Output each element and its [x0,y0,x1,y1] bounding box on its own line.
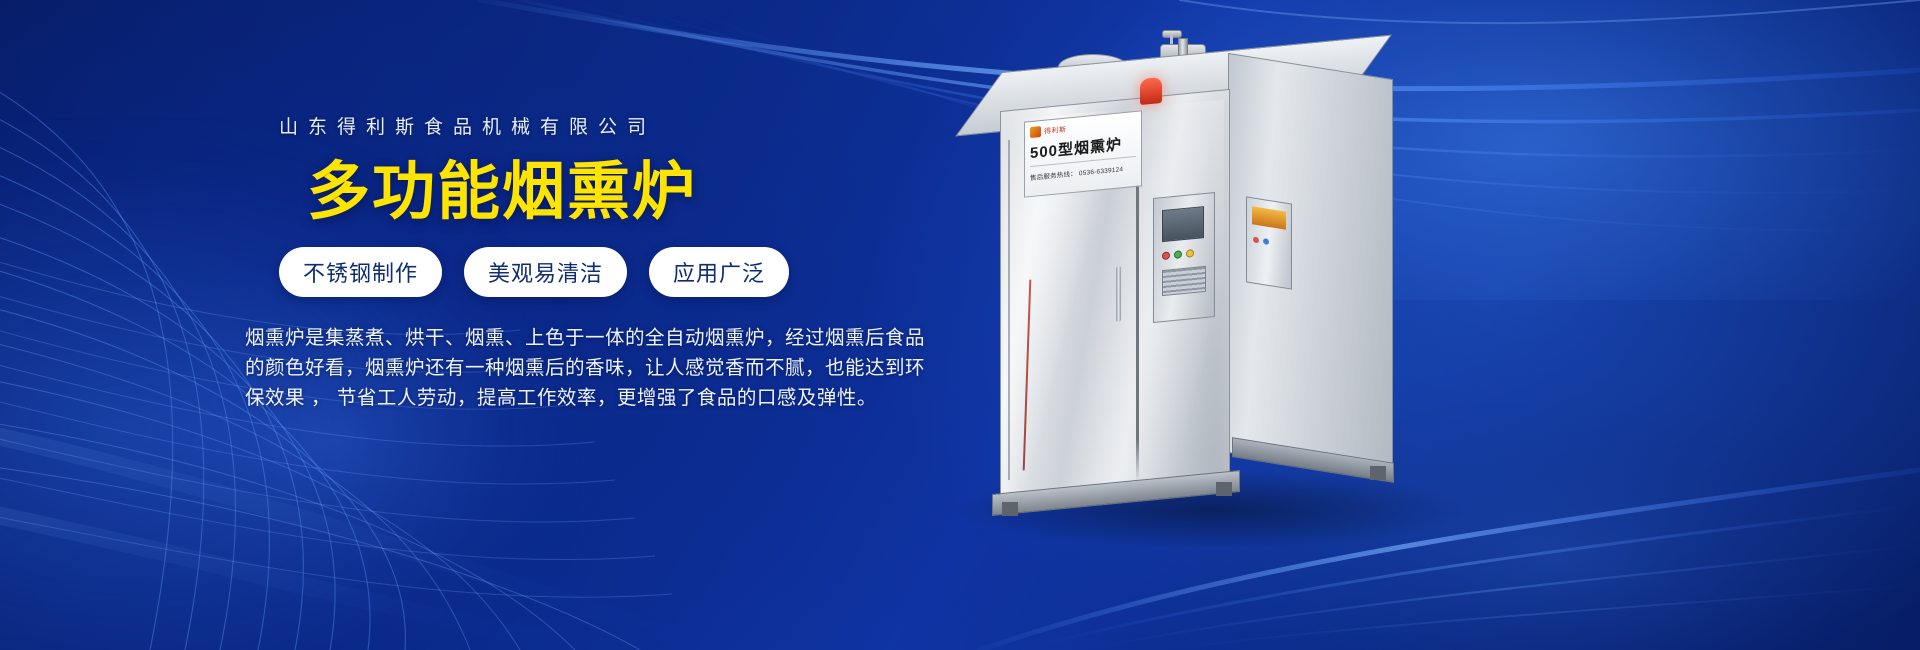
brand-logo-icon [1030,126,1041,138]
product-label-plate: 得利斯 500型烟熏炉 售后服务热线： 0536-6339124 [1024,110,1142,197]
oven-door-handle [1116,266,1121,322]
feature-pill-wide-use[interactable]: 应用广泛 [649,247,789,297]
oven-door-edge [1008,140,1010,480]
oven-secondary-panel [1246,196,1292,289]
alarm-beacon-light [1140,77,1162,105]
secondary-panel-indicator-red [1253,236,1259,243]
feature-pill-easy-clean[interactable]: 美观易清洁 [464,247,627,297]
oven-control-box [1153,192,1215,323]
banner-text-block: 山东得利斯食品机械有限公司 多功能烟熏炉 不锈钢制作 美观易清洁 应用广泛 烟熏… [245,112,825,413]
feature-pill-list: 不锈钢制作 美观易清洁 应用广泛 [279,247,825,297]
company-name: 山东得利斯食品机械有限公司 [245,112,825,139]
control-display-screen [1162,206,1204,242]
feature-pill-stainless[interactable]: 不锈钢制作 [279,247,442,297]
control-button-green [1174,250,1182,259]
hero-banner: 山东得利斯食品机械有限公司 多功能烟熏炉 不锈钢制作 美观易清洁 应用广泛 烟熏… [0,0,1920,650]
secondary-panel-strip [1252,206,1286,229]
control-button-group [1162,249,1194,260]
oven-foot-right [1370,466,1386,480]
description-line-1: 烟熏炉是集蒸煮、烘干、烟熏、上色于一体的全自动烟熏炉，经过烟熏后食品 [245,323,815,353]
label-brand-text: 得利斯 [1044,124,1067,136]
control-button-red [1162,251,1170,260]
description-line-3: 保效果 ， 节省工人劳动，提高工作效率，更增强了食品的口感及弹性。 [245,383,815,413]
product-description: 烟熏炉是集蒸煮、烘干、烟熏、上色于一体的全自动烟熏炉，经过烟熏后食品 的颜色好看… [245,323,815,413]
oven-foot-center [1216,482,1232,496]
control-vent-grill [1162,266,1206,296]
control-button-yellow [1186,249,1194,258]
secondary-panel-indicator-blue [1263,238,1269,245]
description-line-2: 的颜色好看，烟熏炉还有一种烟熏后的香味，让人感觉香而不腻，也能达到环 [245,353,815,383]
product-image-smokehouse-oven: 得利斯 500型烟熏炉 售后服务热线： 0536-6339124 [940,30,1500,550]
page-title: 多功能烟熏炉 [245,159,825,225]
oven-foot-left [1002,502,1018,516]
